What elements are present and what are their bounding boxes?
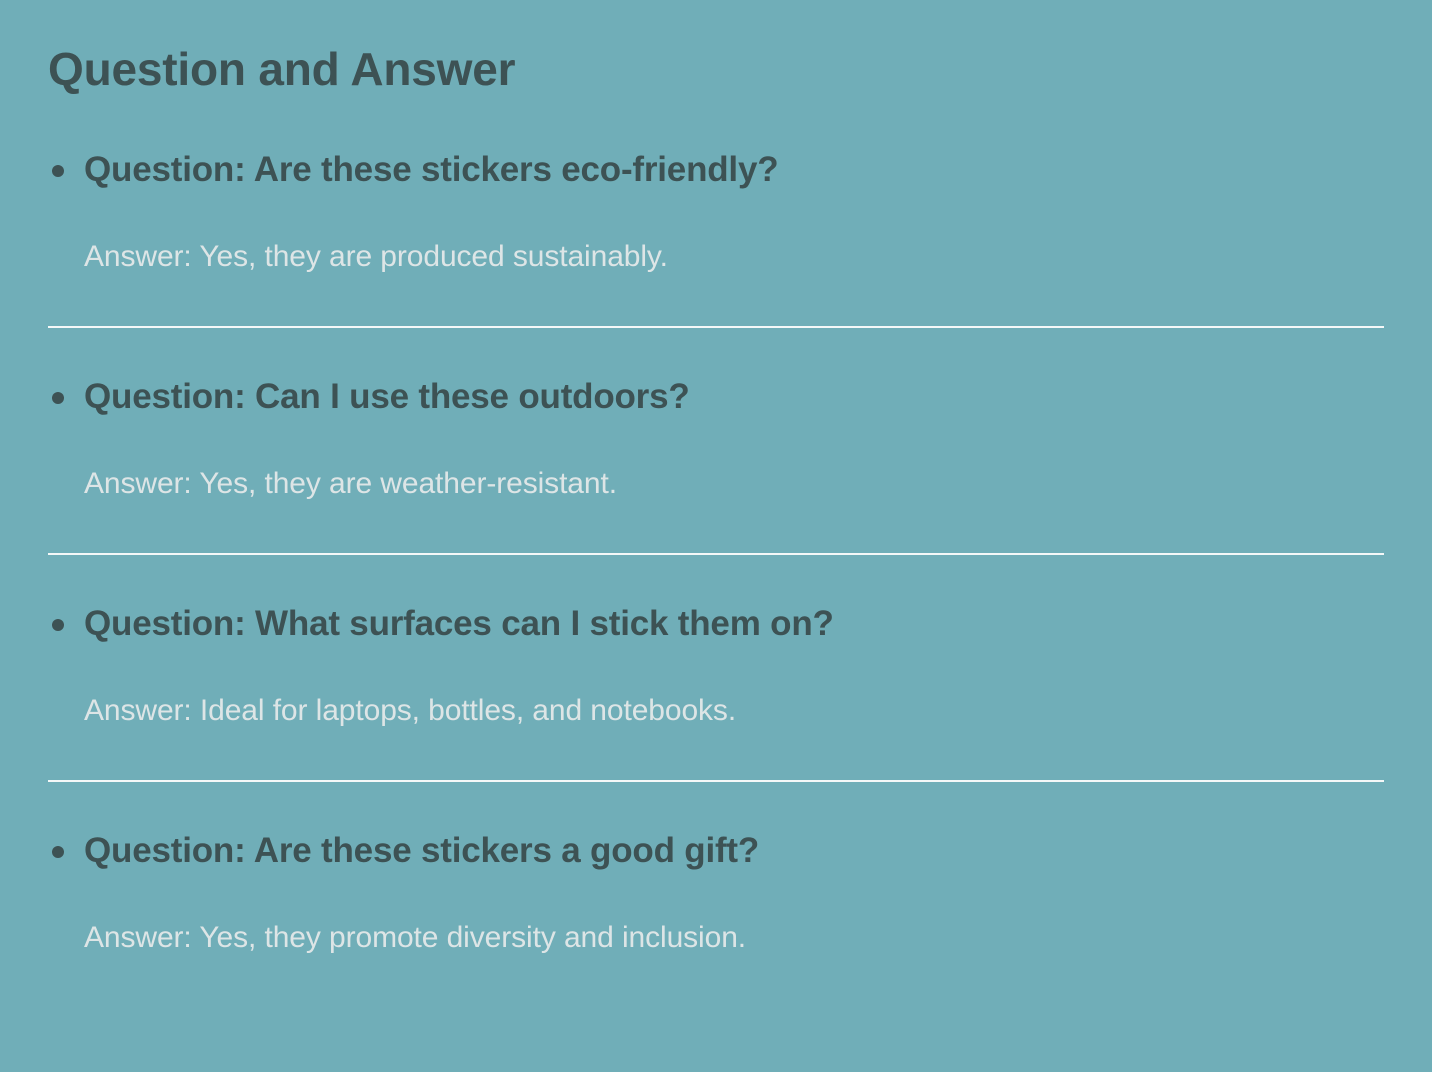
bullet-dot-icon xyxy=(52,392,64,404)
qa-answer: Answer: Yes, they are produced sustainab… xyxy=(84,239,1384,275)
qa-question-row: Question: What surfaces can I stick them… xyxy=(48,603,1384,645)
qa-item: Question: Can I use these outdoors? Answ… xyxy=(48,376,1384,555)
qa-divider xyxy=(48,326,1384,328)
qa-question-row: Question: Can I use these outdoors? xyxy=(48,376,1384,418)
page-title: Question and Answer xyxy=(48,44,1384,95)
qa-page: Question and Answer Question: Are these … xyxy=(0,0,1432,1072)
qa-question: Question: What surfaces can I stick them… xyxy=(84,603,834,645)
bullet-dot-icon xyxy=(52,846,64,858)
qa-question: Question: Can I use these outdoors? xyxy=(84,376,690,418)
qa-divider xyxy=(48,780,1384,782)
qa-answer: Answer: Ideal for laptops, bottles, and … xyxy=(84,693,1384,729)
qa-item: Question: What surfaces can I stick them… xyxy=(48,603,1384,782)
qa-question: Question: Are these stickers eco-friendl… xyxy=(84,149,778,191)
bullet-dot-icon xyxy=(52,165,64,177)
qa-item: Question: Are these stickers eco-friendl… xyxy=(48,149,1384,328)
qa-divider xyxy=(48,553,1384,555)
qa-question-row: Question: Are these stickers a good gift… xyxy=(48,830,1384,872)
qa-question-row: Question: Are these stickers eco-friendl… xyxy=(48,149,1384,191)
qa-item: Question: Are these stickers a good gift… xyxy=(48,830,1384,956)
qa-answer: Answer: Yes, they are weather-resistant. xyxy=(84,466,1384,502)
qa-list: Question: Are these stickers eco-friendl… xyxy=(48,149,1384,956)
qa-answer: Answer: Yes, they promote diversity and … xyxy=(84,920,1384,956)
bullet-dot-icon xyxy=(52,619,64,631)
qa-question: Question: Are these stickers a good gift… xyxy=(84,830,759,872)
